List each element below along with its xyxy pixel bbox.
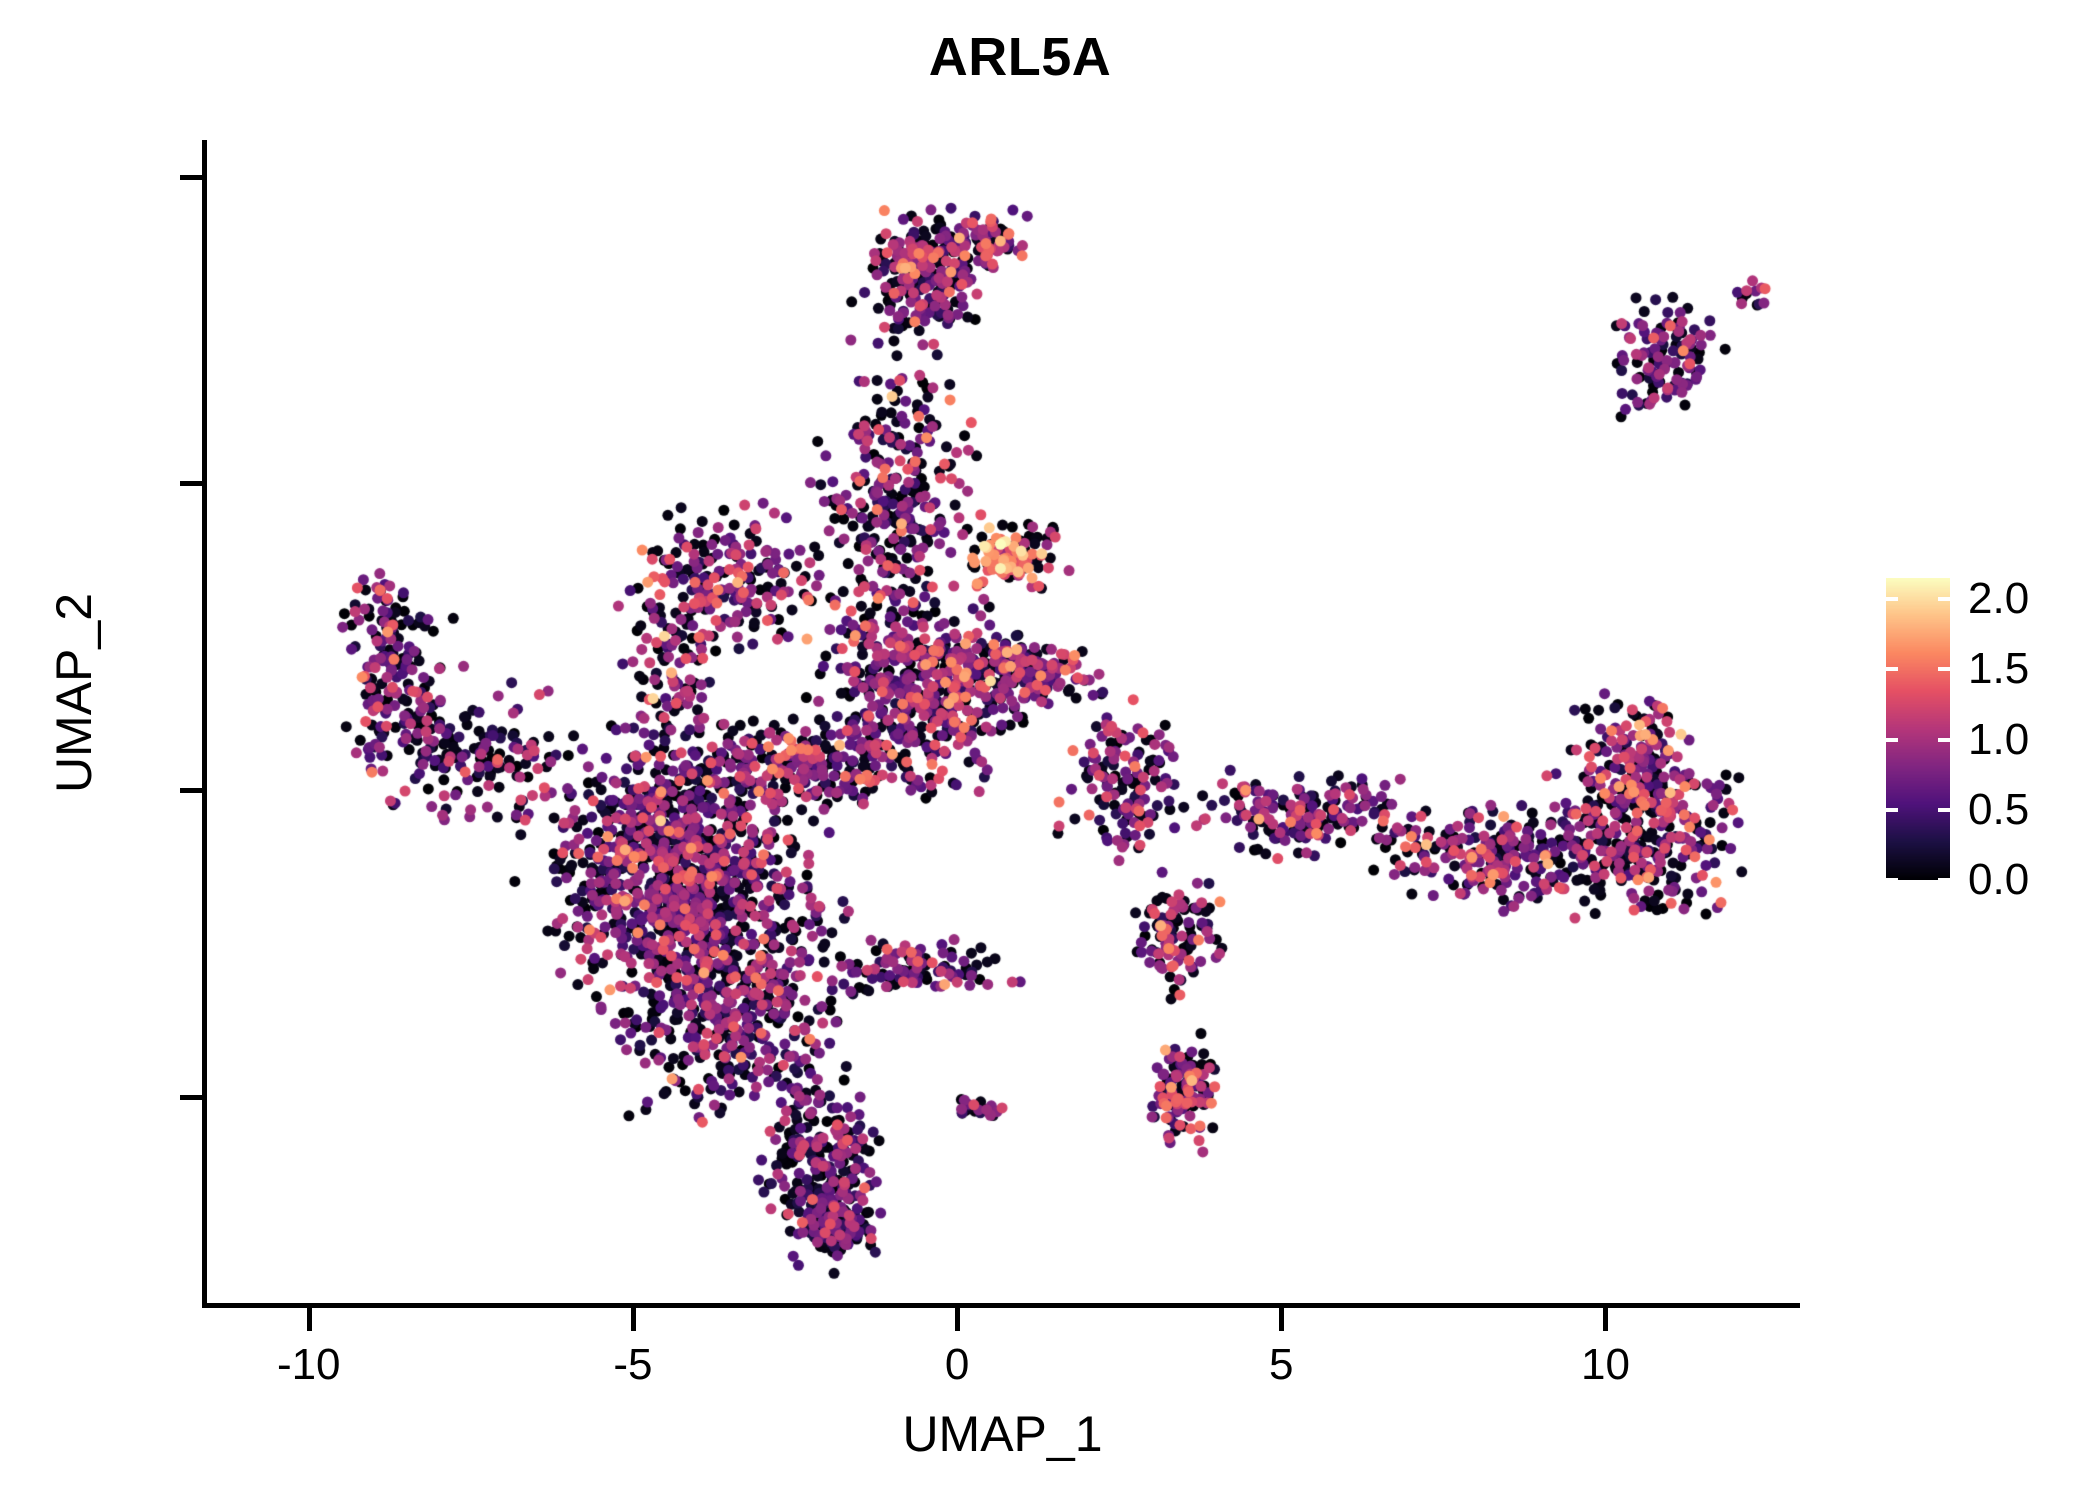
y-tick-mark xyxy=(180,481,203,486)
color-legend-gradient xyxy=(1886,578,1950,880)
x-tick-mark xyxy=(1603,1308,1608,1331)
x-tick-mark xyxy=(631,1308,636,1331)
legend-tick-mark xyxy=(1886,808,1898,812)
legend-tick-label: 0.5 xyxy=(1968,785,2029,835)
x-tick-mark xyxy=(955,1308,960,1331)
legend-tick-mark xyxy=(1886,597,1898,601)
x-tick-mark xyxy=(307,1308,312,1331)
page-title: ARL5A xyxy=(0,26,2040,88)
y-tick-mark xyxy=(180,1095,203,1100)
x-tick-label: -5 xyxy=(613,1340,652,1390)
x-tick-label: -10 xyxy=(277,1340,341,1390)
legend-tick-mark xyxy=(1886,667,1898,671)
umap-feature-plot: ARL5A -50510 -10-50510 UMAP_1 UMAP_2 0.0… xyxy=(0,0,2100,1500)
x-axis-title: UMAP_1 xyxy=(205,1405,1800,1463)
y-tick-mark xyxy=(180,175,203,180)
x-tick-label: 10 xyxy=(1581,1340,1630,1390)
color-legend: 0.00.51.01.52.0 xyxy=(1880,572,2080,892)
legend-tick-mark xyxy=(1938,667,1950,671)
legend-tick-mark xyxy=(1938,597,1950,601)
x-tick-label: 0 xyxy=(945,1340,969,1390)
legend-tick-mark xyxy=(1886,878,1898,882)
legend-tick-label: 2.0 xyxy=(1968,574,2029,624)
x-tick-mark xyxy=(1279,1308,1284,1331)
y-axis-line xyxy=(202,140,207,1308)
legend-tick-label: 1.0 xyxy=(1968,715,2029,765)
legend-tick-mark xyxy=(1886,738,1898,742)
x-tick-label: 5 xyxy=(1269,1340,1293,1390)
x-axis-line xyxy=(202,1303,1800,1308)
scatter-plot-canvas xyxy=(205,140,1800,1305)
legend-tick-mark xyxy=(1938,878,1950,882)
legend-tick-label: 0.0 xyxy=(1968,855,2029,905)
legend-tick-mark xyxy=(1938,738,1950,742)
legend-tick-mark xyxy=(1938,808,1950,812)
y-axis-title: UMAP_2 xyxy=(45,343,103,1043)
legend-tick-label: 1.5 xyxy=(1968,644,2029,694)
y-tick-mark xyxy=(180,788,203,793)
